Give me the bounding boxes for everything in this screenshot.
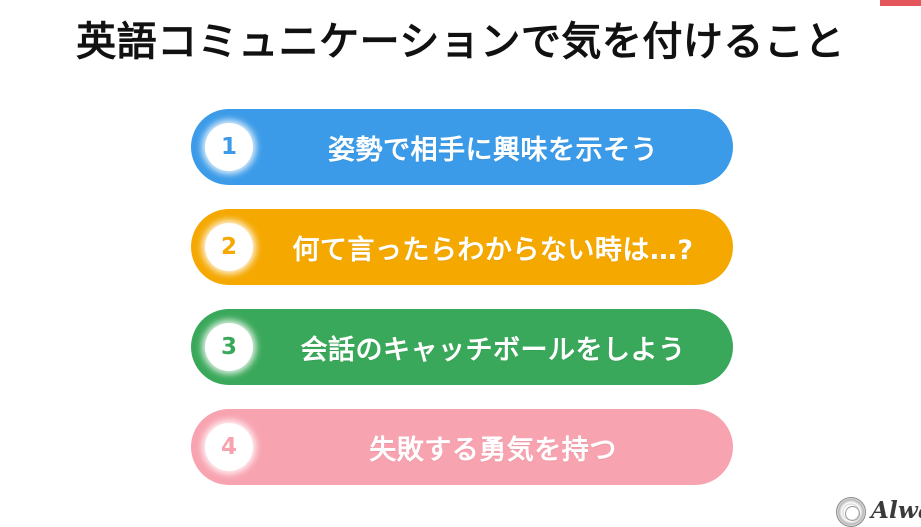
item-number-badge: 4: [205, 423, 253, 471]
page-title: 英語コミュニケーションで気を付けること: [0, 14, 921, 70]
slide-canvas: 英語コミュニケーションで気を付けること 1 姿勢で相手に興味を示そう 2 何て言…: [0, 0, 921, 518]
item-number: 1: [221, 134, 237, 160]
item-number: 2: [221, 234, 237, 260]
numbered-points-list: 1 姿勢で相手に興味を示そう 2 何て言ったらわからない時は…? 3 会話のキャ…: [191, 109, 733, 509]
item-label: 姿勢で相手に興味を示そう: [267, 109, 719, 185]
list-item[interactable]: 3 会話のキャッチボールをしよう: [191, 309, 733, 385]
item-label: 会話のキャッチボールをしよう: [267, 309, 719, 385]
list-item[interactable]: 4 失敗する勇気を持つ: [191, 409, 733, 485]
accent-bar-top-right: [880, 0, 921, 6]
item-number-badge: 3: [205, 323, 253, 371]
list-item[interactable]: 1 姿勢で相手に興味を示そう: [191, 109, 733, 185]
item-number: 3: [221, 334, 237, 360]
item-number-badge: 2: [205, 223, 253, 271]
item-number-badge: 1: [205, 123, 253, 171]
seal-logo-icon: [836, 497, 866, 527]
list-item[interactable]: 2 何て言ったらわからない時は…?: [191, 209, 733, 285]
item-number: 4: [221, 434, 237, 460]
logo-wordmark: Alwayk: [871, 497, 921, 525]
item-label: 何て言ったらわからない時は…?: [267, 209, 719, 285]
item-label: 失敗する勇気を持つ: [267, 409, 719, 485]
